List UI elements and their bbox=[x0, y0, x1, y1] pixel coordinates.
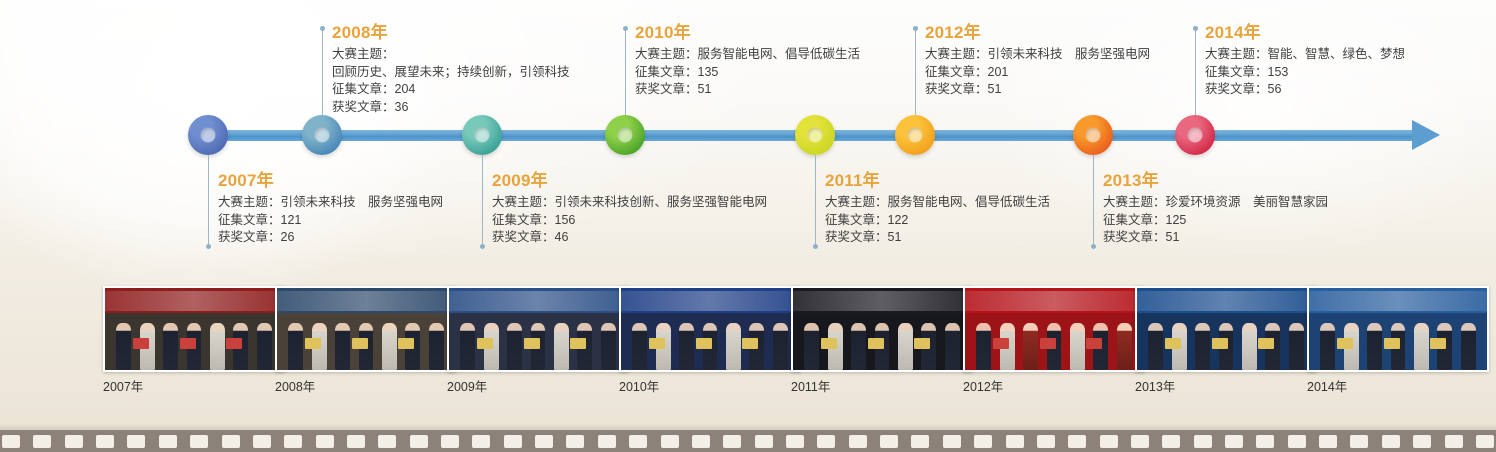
filmstrip-perforation bbox=[535, 435, 553, 448]
filmstrip-perforation bbox=[190, 435, 208, 448]
filmstrip-perforation bbox=[1476, 435, 1494, 448]
filmstrip-perforation bbox=[755, 435, 773, 448]
filmstrip-perforation bbox=[911, 435, 929, 448]
gallery-photo-certificate bbox=[133, 338, 149, 349]
timeline-entry-2014: 2014年大赛主题：智能、智慧、绿色、梦想征集文章：153获奖文章：56 bbox=[1205, 22, 1405, 99]
filmstrip-perforation bbox=[1037, 435, 1055, 448]
gallery-photo[interactable] bbox=[447, 286, 629, 372]
timeline-node-2007[interactable] bbox=[188, 115, 228, 155]
entry-detail-line: 征集文章：201 bbox=[925, 64, 1150, 82]
timeline-stem bbox=[482, 155, 483, 246]
gallery-photo-certificate bbox=[868, 338, 884, 349]
gallery-item[interactable]: 2009年 bbox=[447, 286, 629, 395]
timeline: 2007年大赛主题：引领未来科技 服务坚强电网征集文章：121获奖文章：2620… bbox=[0, 0, 1496, 270]
timeline-stem-dot bbox=[1193, 26, 1198, 31]
timeline-node-2009[interactable] bbox=[462, 115, 502, 155]
timeline-entry-2007: 2007年大赛主题：引领未来科技 服务坚强电网征集文章：121获奖文章：26 bbox=[218, 170, 443, 247]
gallery-photo-scene bbox=[1137, 288, 1315, 370]
gallery-photo-figure bbox=[726, 323, 741, 370]
filmstrip-perforation bbox=[65, 435, 83, 448]
filmstrip-perforation bbox=[96, 435, 114, 448]
gallery-item[interactable]: 2008年 bbox=[275, 286, 457, 395]
entry-year-heading: 2011年 bbox=[825, 170, 1050, 192]
filmstrip-perforation bbox=[316, 435, 334, 448]
entry-year-heading: 2010年 bbox=[635, 22, 860, 44]
gallery-photo-figure bbox=[1367, 323, 1382, 370]
filmstrip-perforation bbox=[974, 435, 992, 448]
gallery-photo-figure bbox=[554, 323, 569, 370]
filmstrip-perforation bbox=[629, 435, 647, 448]
gallery-photo-figure bbox=[257, 323, 272, 370]
gallery-photo-certificate bbox=[1384, 338, 1400, 349]
gallery-photo-figure bbox=[507, 323, 522, 370]
gallery-photo-figure bbox=[851, 323, 866, 370]
entry-detail-line: 征集文章：156 bbox=[492, 212, 767, 230]
gallery-photo-certificate bbox=[993, 338, 1009, 349]
gallery-photo-figure bbox=[601, 323, 616, 370]
timeline-node-2014[interactable] bbox=[1175, 115, 1215, 155]
filmstrip-perforation bbox=[1162, 435, 1180, 448]
entry-detail-line: 获奖文章：51 bbox=[925, 81, 1150, 99]
timeline-stem-dot bbox=[1091, 244, 1096, 249]
timeline-stem bbox=[1093, 155, 1094, 246]
gallery-photo-caption: 2009年 bbox=[447, 379, 629, 395]
gallery-photo-certificate bbox=[524, 338, 540, 349]
gallery-photo-figure bbox=[1414, 323, 1429, 370]
filmstrip-perforation bbox=[504, 435, 522, 448]
timeline-stem-dot bbox=[480, 244, 485, 249]
timeline-arrow-icon bbox=[1412, 120, 1440, 150]
gallery-photo[interactable] bbox=[619, 286, 801, 372]
gallery-photo[interactable] bbox=[791, 286, 973, 372]
gallery-photo-scene bbox=[277, 288, 455, 370]
gallery-photo-caption: 2013年 bbox=[1135, 379, 1317, 395]
gallery-item[interactable]: 2012年 bbox=[963, 286, 1145, 395]
entry-detail-line: 征集文章：135 bbox=[635, 64, 860, 82]
timeline-stem-dot bbox=[623, 26, 628, 31]
gallery-photo-certificate bbox=[305, 338, 321, 349]
filmstrip-perforation bbox=[1100, 435, 1118, 448]
timeline-stem bbox=[815, 155, 816, 246]
entry-year-heading: 2008年 bbox=[332, 22, 570, 44]
filmstrip-perforation bbox=[347, 435, 365, 448]
gallery-photo-certificate bbox=[1165, 338, 1181, 349]
gallery-photo-figure bbox=[1117, 323, 1132, 370]
entry-detail-line: 大赛主题：引领未来科技创新、服务坚强智能电网 bbox=[492, 194, 767, 212]
filmstrip-perforation bbox=[1288, 435, 1306, 448]
timeline-node-2010[interactable] bbox=[605, 115, 645, 155]
gallery-photo-caption: 2012年 bbox=[963, 379, 1145, 395]
filmstrip-perforation bbox=[943, 435, 961, 448]
gallery-item[interactable]: 2010年 bbox=[619, 286, 801, 395]
filmstrip-perforation bbox=[127, 435, 145, 448]
filmstrip-perforation bbox=[472, 435, 490, 448]
entry-detail-line: 获奖文章：56 bbox=[1205, 81, 1405, 99]
gallery-photo-certificate bbox=[180, 338, 196, 349]
gallery-photo-figure bbox=[210, 323, 225, 370]
gallery-photo-figure bbox=[382, 323, 397, 370]
gallery-photo-caption: 2010年 bbox=[619, 379, 801, 395]
gallery-photo-certificate bbox=[477, 338, 493, 349]
gallery-photo-certificate bbox=[1258, 338, 1274, 349]
gallery-photo-figure bbox=[335, 323, 350, 370]
entry-detail-line: 大赛主题：引领未来科技 服务坚强电网 bbox=[925, 46, 1150, 64]
gallery-photo-caption: 2008年 bbox=[275, 379, 457, 395]
filmstrip-perforation bbox=[1319, 435, 1337, 448]
entry-year-heading: 2013年 bbox=[1103, 170, 1328, 192]
filmstrip-perforation bbox=[1382, 435, 1400, 448]
entry-detail-line: 回顾历史、展望未来；持续创新，引领科技 bbox=[332, 64, 570, 82]
gallery-item[interactable]: 2013年 bbox=[1135, 286, 1317, 395]
timeline-stem bbox=[625, 28, 626, 115]
gallery-photo-figure bbox=[976, 323, 991, 370]
gallery-photo-banner bbox=[449, 291, 627, 311]
gallery-photo-figure bbox=[679, 323, 694, 370]
filmstrip-perforation bbox=[1131, 435, 1149, 448]
gallery-photo-figure bbox=[632, 323, 647, 370]
gallery-photo-figure bbox=[804, 323, 819, 370]
entry-year-heading: 2012年 bbox=[925, 22, 1150, 44]
gallery-photo-banner bbox=[105, 291, 283, 311]
gallery-photo-scene bbox=[793, 288, 971, 370]
gallery-photo-certificate bbox=[821, 338, 837, 349]
entry-year-heading: 2014年 bbox=[1205, 22, 1405, 44]
gallery-photo[interactable] bbox=[1307, 286, 1489, 372]
gallery-photo-certificate bbox=[1337, 338, 1353, 349]
gallery-photo-banner bbox=[1137, 291, 1315, 311]
filmstrip-perforation bbox=[1068, 435, 1086, 448]
gallery-photo-scene bbox=[965, 288, 1143, 370]
timeline-stem-dot bbox=[813, 244, 818, 249]
gallery-photo-figure bbox=[1461, 323, 1476, 370]
entry-detail-line: 征集文章：121 bbox=[218, 212, 443, 230]
filmstrip-perforation bbox=[33, 435, 51, 448]
gallery-photo-certificate bbox=[1430, 338, 1446, 349]
timeline-node-2008[interactable] bbox=[302, 115, 342, 155]
entry-detail-line: 大赛主题：智能、智慧、绿色、梦想 bbox=[1205, 46, 1405, 64]
entry-detail-line: 获奖文章：26 bbox=[218, 229, 443, 247]
gallery-photo-banner bbox=[965, 291, 1143, 311]
gallery-photo-figure bbox=[1148, 323, 1163, 370]
gallery-photo-banner bbox=[793, 291, 971, 311]
gallery-photo-caption: 2014年 bbox=[1307, 379, 1489, 395]
filmstrip-perforation bbox=[786, 435, 804, 448]
gallery-photo-figure bbox=[1023, 323, 1038, 370]
entry-detail-line: 大赛主题： bbox=[332, 46, 570, 64]
timeline-stem bbox=[208, 155, 209, 246]
timeline-stem-dot bbox=[913, 26, 918, 31]
entry-detail-line: 获奖文章：51 bbox=[635, 81, 860, 99]
entry-detail-line: 大赛主题：珍爱环境资源 美丽智慧家园 bbox=[1103, 194, 1328, 212]
gallery-photo-caption: 2007年 bbox=[103, 379, 285, 395]
gallery-photo-figure bbox=[1070, 323, 1085, 370]
timeline-stem bbox=[915, 28, 916, 115]
filmstrip-border bbox=[0, 430, 1496, 452]
timeline-entry-2010: 2010年大赛主题：服务智能电网、倡导低碳生活征集文章：135获奖文章：51 bbox=[635, 22, 860, 99]
gallery-item[interactable]: 2007年 bbox=[103, 286, 285, 395]
timeline-node-2013[interactable] bbox=[1073, 115, 1113, 155]
gallery-photo-scene bbox=[621, 288, 799, 370]
gallery-photo[interactable] bbox=[963, 286, 1145, 372]
entry-detail-line: 获奖文章：51 bbox=[1103, 229, 1328, 247]
gallery-photo-certificate bbox=[1086, 338, 1102, 349]
gallery-photo[interactable] bbox=[275, 286, 457, 372]
gallery-photo-certificate bbox=[649, 338, 665, 349]
gallery-photo[interactable] bbox=[103, 286, 285, 372]
gallery-photo-scene bbox=[1309, 288, 1487, 370]
gallery-photo-figure bbox=[1195, 323, 1210, 370]
filmstrip-perforation bbox=[1445, 435, 1463, 448]
timeline-stem-dot bbox=[320, 26, 325, 31]
timeline-node-2011[interactable] bbox=[795, 115, 835, 155]
entry-detail-line: 获奖文章：46 bbox=[492, 229, 767, 247]
filmstrip-perforation bbox=[880, 435, 898, 448]
filmstrip-perforation bbox=[2, 435, 20, 448]
filmstrip-perforation bbox=[410, 435, 428, 448]
gallery-photo-caption: 2011年 bbox=[791, 379, 973, 395]
gallery-photo-figure bbox=[1242, 323, 1257, 370]
filmstrip-perforation bbox=[284, 435, 302, 448]
timeline-stem-dot bbox=[206, 244, 211, 249]
gallery-item[interactable]: 2014年 bbox=[1307, 286, 1489, 395]
entry-detail-line: 大赛主题：服务智能电网、倡导低碳生活 bbox=[635, 46, 860, 64]
timeline-entry-2008: 2008年大赛主题：回顾历史、展望未来；持续创新，引领科技征集文章：204获奖文… bbox=[332, 22, 570, 116]
gallery-photo-certificate bbox=[914, 338, 930, 349]
timeline-stem bbox=[1195, 28, 1196, 115]
timeline-entry-2009: 2009年大赛主题：引领未来科技创新、服务坚强智能电网征集文章：156获奖文章：… bbox=[492, 170, 767, 247]
gallery-photo-certificate bbox=[398, 338, 414, 349]
gallery-photo-scene bbox=[105, 288, 283, 370]
entry-detail-line: 大赛主题：引领未来科技 服务坚强电网 bbox=[218, 194, 443, 212]
filmstrip-perforation bbox=[598, 435, 616, 448]
filmstrip-perforation bbox=[817, 435, 835, 448]
entry-year-heading: 2009年 bbox=[492, 170, 767, 192]
gallery-photo-certificate bbox=[226, 338, 242, 349]
filmstrip-perforation bbox=[1413, 435, 1431, 448]
timeline-stem bbox=[322, 28, 323, 115]
gallery-photo-figure bbox=[898, 323, 913, 370]
timeline-entry-2012: 2012年大赛主题：引领未来科技 服务坚强电网征集文章：201获奖文章：51 bbox=[925, 22, 1150, 99]
entry-detail-line: 获奖文章：51 bbox=[825, 229, 1050, 247]
gallery-photo-certificate bbox=[352, 338, 368, 349]
filmstrip-perforation bbox=[849, 435, 867, 448]
filmstrip-perforation bbox=[159, 435, 177, 448]
filmstrip-perforation bbox=[378, 435, 396, 448]
gallery-photo-scene bbox=[449, 288, 627, 370]
gallery-photo-certificate bbox=[570, 338, 586, 349]
gallery-photo-banner bbox=[277, 291, 455, 311]
gallery-photo-certificate bbox=[696, 338, 712, 349]
gallery-photo[interactable] bbox=[1135, 286, 1317, 372]
gallery-photo-certificate bbox=[1040, 338, 1056, 349]
filmstrip-perforation bbox=[1256, 435, 1274, 448]
timeline-entry-2011: 2011年大赛主题：服务智能电网、倡导低碳生活征集文章：122获奖文章：51 bbox=[825, 170, 1050, 247]
infographic-canvas: 2007年大赛主题：引领未来科技 服务坚强电网征集文章：121获奖文章：2620… bbox=[0, 0, 1496, 452]
entry-detail-line: 获奖文章：36 bbox=[332, 99, 570, 117]
gallery-photo-certificate bbox=[742, 338, 758, 349]
gallery-photo-figure bbox=[945, 323, 960, 370]
gallery-photo-figure bbox=[1320, 323, 1335, 370]
filmstrip-perforation bbox=[1194, 435, 1212, 448]
gallery-photo-figure bbox=[163, 323, 178, 370]
gallery-photo-certificate bbox=[1212, 338, 1228, 349]
filmstrip-perforation bbox=[441, 435, 459, 448]
filmstrip-perforation bbox=[1225, 435, 1243, 448]
gallery-photo-banner bbox=[621, 291, 799, 311]
gallery-photo-figure bbox=[773, 323, 788, 370]
gallery-photo-figure bbox=[288, 323, 303, 370]
entry-detail-line: 征集文章：153 bbox=[1205, 64, 1405, 82]
entry-detail-line: 征集文章：204 bbox=[332, 81, 570, 99]
filmstrip-perforation bbox=[1006, 435, 1024, 448]
timeline-node-2012[interactable] bbox=[895, 115, 935, 155]
gallery-photo-figure bbox=[429, 323, 444, 370]
filmstrip-perforation bbox=[723, 435, 741, 448]
entry-detail-line: 大赛主题：服务智能电网、倡导低碳生活 bbox=[825, 194, 1050, 212]
entry-year-heading: 2007年 bbox=[218, 170, 443, 192]
filmstrip-perforation bbox=[253, 435, 271, 448]
gallery-photo-banner bbox=[1309, 291, 1487, 311]
gallery-photo-figure bbox=[116, 323, 131, 370]
photo-gallery: 2007年2008年2009年2010年2011年2012年2013年2014年 bbox=[0, 286, 1496, 396]
filmstrip-perforation bbox=[661, 435, 679, 448]
gallery-photo-figure bbox=[460, 323, 475, 370]
gallery-item[interactable]: 2011年 bbox=[791, 286, 973, 395]
gallery-photo-figure bbox=[1289, 323, 1304, 370]
filmstrip-perforation bbox=[566, 435, 584, 448]
timeline-entry-2013: 2013年大赛主题：珍爱环境资源 美丽智慧家园征集文章：125获奖文章：51 bbox=[1103, 170, 1328, 247]
filmstrip-perforation bbox=[222, 435, 240, 448]
entry-detail-line: 征集文章：122 bbox=[825, 212, 1050, 230]
filmstrip-perforation bbox=[1350, 435, 1368, 448]
entry-detail-line: 征集文章：125 bbox=[1103, 212, 1328, 230]
filmstrip-perforation bbox=[692, 435, 710, 448]
